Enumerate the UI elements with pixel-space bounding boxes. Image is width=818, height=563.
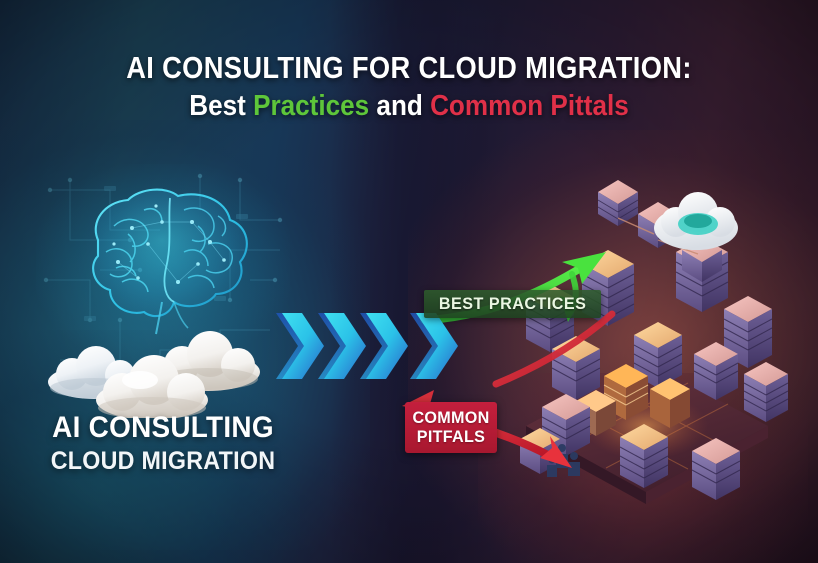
page-subtitle: Best Practices and Common Pittals: [41, 92, 777, 121]
subtitle-part-practices: Practices: [253, 90, 369, 122]
caption-cloud-migration: CLOUD MIGRATION: [47, 448, 280, 474]
subtitle-part-and: and: [369, 90, 430, 122]
left-caption-block: AI CONSULTING CLOUD MIGRATION: [38, 412, 288, 474]
best-practices-label: BEST PRACTICES: [439, 295, 587, 312]
banner-root: AI CONSULTING FOR CLOUD MIGRATION: Best …: [0, 0, 818, 563]
chevron-arrows-right-icon: [274, 307, 464, 385]
page-title: AI CONSULTING FOR CLOUD MIGRATION:: [49, 52, 769, 83]
title-block: AI CONSULTING FOR CLOUD MIGRATION: Best …: [0, 52, 818, 121]
common-pitfalls-line2: PITFALS: [412, 427, 490, 446]
common-pitfalls-badge: COMMON PITFALS: [405, 402, 497, 453]
subtitle-part-pitfalls: Common Pittals: [430, 90, 629, 122]
best-practices-badge: BEST PRACTICES: [424, 290, 601, 318]
common-pitfalls-line1: COMMON: [412, 408, 490, 427]
caption-ai-consulting: AI CONSULTING: [47, 412, 280, 444]
cloud-cluster-icon: [36, 318, 276, 418]
subtitle-part-best: Best: [189, 90, 253, 122]
